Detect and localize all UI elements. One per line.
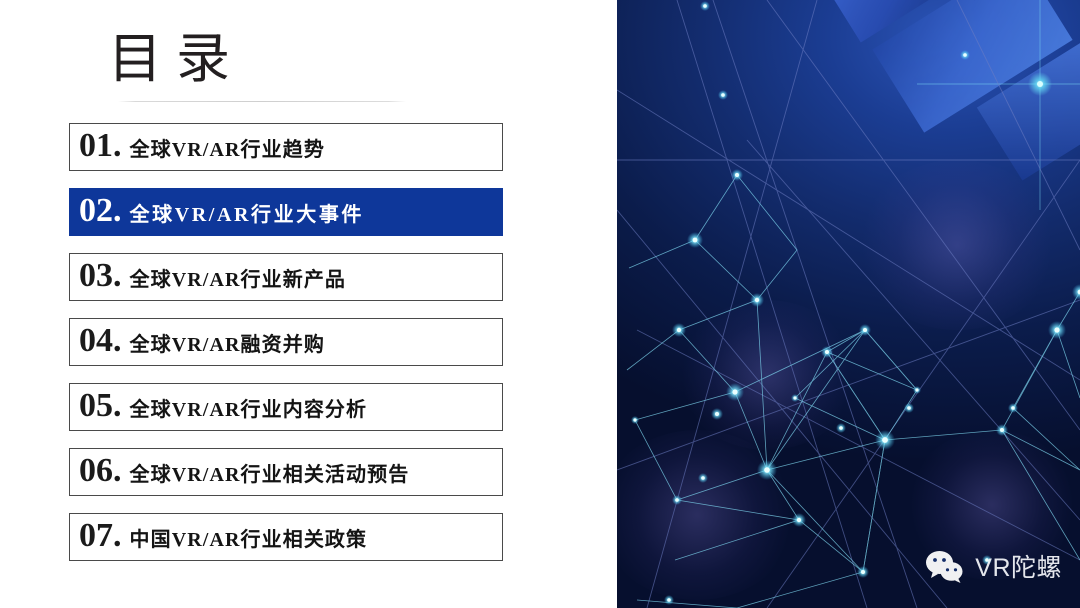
toc-item-number: 02. — [79, 194, 122, 231]
toc-item-label: 全球VR/AR行业相关活动预告 — [130, 458, 410, 487]
toc-item-label: 中国VR/AR行业相关政策 — [130, 523, 368, 552]
watermark-text: VR陀螺 — [975, 548, 1062, 584]
toc-item-label: 全球VR/AR融资并购 — [130, 328, 325, 357]
toc-item-5[interactable]: 05.全球VR/AR行业内容分析 — [69, 383, 503, 431]
toc-item-7[interactable]: 07.中国VR/AR行业相关政策 — [69, 513, 503, 561]
toc-item-number: 07. — [79, 519, 122, 556]
toc-item-number: 05. — [79, 389, 122, 426]
page-title: 目录 — [108, 24, 244, 94]
toc-item-label: 全球VR/AR行业大事件 — [130, 198, 365, 227]
toc-item-2[interactable]: 02.全球VR/AR行业大事件 — [69, 188, 503, 236]
toc-item-1[interactable]: 01.全球VR/AR行业趋势 — [69, 123, 503, 171]
toc-item-3[interactable]: 03.全球VR/AR行业新产品 — [69, 253, 503, 301]
table-of-contents-list: 01.全球VR/AR行业趋势02.全球VR/AR行业大事件03.全球VR/AR行… — [69, 123, 503, 578]
toc-item-label: 全球VR/AR行业趋势 — [130, 133, 325, 162]
wechat-icon — [925, 550, 965, 583]
toc-item-number: 04. — [79, 324, 122, 361]
watermark: VR陀螺 — [925, 548, 1062, 584]
network-nodes — [631, 1, 1080, 605]
title-divider — [118, 101, 406, 102]
toc-item-label: 全球VR/AR行业内容分析 — [130, 393, 368, 422]
slide-root: 目录 01.全球VR/AR行业趋势02.全球VR/AR行业大事件03.全球VR/… — [0, 0, 1080, 608]
toc-item-label: 全球VR/AR行业新产品 — [130, 263, 347, 292]
toc-item-number: 01. — [79, 129, 122, 166]
decorative-right-panel: VR陀螺 — [617, 0, 1080, 608]
toc-item-6[interactable]: 06.全球VR/AR行业相关活动预告 — [69, 448, 503, 496]
toc-item-number: 03. — [79, 259, 122, 296]
network-graphic — [617, 0, 1080, 608]
toc-item-4[interactable]: 04.全球VR/AR融资并购 — [69, 318, 503, 366]
toc-item-number: 06. — [79, 454, 122, 491]
left-content-panel: 目录 01.全球VR/AR行业趋势02.全球VR/AR行业大事件03.全球VR/… — [0, 0, 617, 608]
